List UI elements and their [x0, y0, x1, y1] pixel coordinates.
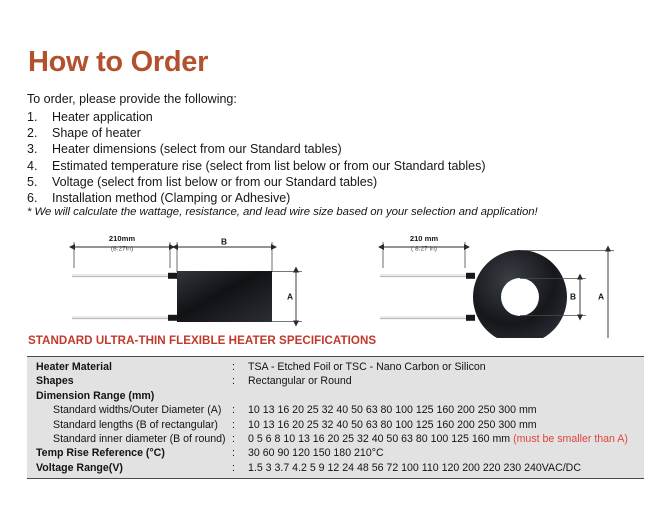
intro-text: To order, please provide the following: — [27, 92, 237, 106]
row-label: Voltage Range(V) — [27, 461, 232, 475]
round-heater-inner-hole — [501, 278, 539, 316]
lead-wire-top — [72, 275, 176, 278]
list-item: 2. Shape of heater — [27, 126, 607, 142]
row-colon: : — [232, 432, 248, 446]
inner-diameter-label-b: B — [570, 292, 576, 302]
lead-connector-bottom — [168, 315, 178, 321]
lead-wire-bottom — [380, 317, 472, 320]
row-label: Shapes — [27, 374, 232, 388]
outer-diameter-label-a: A — [598, 292, 604, 302]
row-label: Dimension Range (mm) — [27, 389, 232, 403]
list-item-number: 5. — [27, 175, 52, 191]
heater-diagrams: 210mm (8.27in) B A — [0, 228, 650, 338]
list-item: 4. Estimated temperature rise (select fr… — [27, 159, 607, 175]
row-colon: : — [232, 418, 248, 432]
row-value: TSA - Etched Foil or TSC - Nano Carbon o… — [248, 360, 644, 374]
list-item-number: 4. — [27, 159, 52, 175]
table-row: Dimension Range (mm) — [27, 389, 644, 403]
table-row: Heater Material : TSA - Etched Foil or T… — [27, 357, 644, 374]
row-value-wrapper: 0 5 6 8 10 13 16 20 25 32 40 50 63 80 10… — [248, 432, 644, 446]
specifications-table: Heater Material : TSA - Etched Foil or T… — [27, 356, 644, 479]
table-row: Shapes : Rectangular or Round — [27, 374, 644, 388]
row-label: Standard lengths (B of rectangular) — [27, 418, 232, 432]
row-value: 1.5 3 3.7 4.2 5 9 12 24 48 56 72 100 110… — [248, 461, 644, 475]
order-steps-list: 1. Heater application 2. Shape of heater… — [27, 110, 607, 207]
table-row: Standard widths/Outer Diameter (A) : 10 … — [27, 403, 644, 417]
diagram-canvas: 210mm (8.27in) B A — [0, 228, 650, 338]
row-value: 10 13 16 20 25 32 40 50 63 80 100 125 16… — [248, 418, 644, 432]
list-item-label: Shape of heater — [52, 126, 607, 142]
table-row: Temp Rise Reference (°C) : 30 60 90 120 … — [27, 446, 644, 460]
list-item-number: 6. — [27, 191, 52, 207]
row-colon: : — [232, 403, 248, 417]
row-label: Standard widths/Outer Diameter (A) — [27, 403, 232, 417]
list-item-label: Installation method (Clamping or Adhesiv… — [52, 191, 607, 207]
row-colon: : — [232, 374, 248, 388]
order-page: How to Order To order, please provide th… — [0, 0, 650, 523]
page-title: How to Order — [28, 48, 208, 77]
lead-wire-bottom — [72, 317, 176, 320]
table-row: Voltage Range(V) : 1.5 3 3.7 4.2 5 9 12 … — [27, 461, 644, 478]
row-colon: : — [232, 446, 248, 460]
list-item: 1. Heater application — [27, 110, 607, 126]
list-item-number: 3. — [27, 142, 52, 158]
row-value: Rectangular or Round — [248, 374, 644, 388]
list-item-label: Voltage (select from list below or from … — [52, 175, 607, 191]
lead-connector-top — [466, 273, 475, 279]
list-item: 3. Heater dimensions (select from our St… — [27, 142, 607, 158]
height-label-a: A — [287, 292, 293, 302]
lead-length-inch-label: ( 8.27 in) — [411, 246, 437, 253]
list-item-label: Heater application — [52, 110, 607, 126]
lead-length-inch-label: (8.27in) — [111, 246, 133, 253]
table-row: Standard inner diameter (B of round) : 0… — [27, 432, 644, 446]
rectangular-heater-body — [177, 271, 272, 322]
row-colon: : — [232, 360, 248, 374]
row-value: 30 60 90 120 150 180 210°C — [248, 446, 644, 460]
round-heater-diagram: 210 mm ( 8.27 in) B A — [380, 234, 614, 338]
row-value-note: (must be smaller than A) — [513, 433, 628, 445]
list-item-number: 2. — [27, 126, 52, 142]
list-item: 5. Voltage (select from list below or fr… — [27, 175, 607, 191]
row-label: Temp Rise Reference (°C) — [27, 446, 232, 460]
width-label-b: B — [221, 237, 227, 247]
list-item-label: Estimated temperature rise (select from … — [52, 159, 607, 175]
row-label: Heater Material — [27, 360, 232, 374]
lead-length-mm-label: 210mm — [109, 234, 135, 243]
row-value: 10 13 16 20 25 32 40 50 63 80 100 125 16… — [248, 403, 644, 417]
lead-wire-top — [380, 275, 472, 278]
list-item-number: 1. — [27, 110, 52, 126]
table-row: Standard lengths (B of rectangular) : 10… — [27, 418, 644, 432]
footnote: * We will calculate the wattage, resista… — [27, 206, 538, 218]
lead-connector-bottom — [466, 315, 475, 321]
row-colon: : — [232, 461, 248, 475]
lead-connector-top — [168, 273, 178, 279]
lead-length-mm-label: 210 mm — [410, 234, 439, 243]
row-value: 0 5 6 8 10 13 16 20 25 32 40 50 63 80 10… — [248, 433, 510, 445]
list-item-label: Heater dimensions (select from our Stand… — [52, 142, 607, 158]
specifications-heading: STANDARD ULTRA-THIN FLEXIBLE HEATER SPEC… — [28, 334, 376, 347]
row-label: Standard inner diameter (B of round) — [27, 432, 232, 446]
list-item: 6. Installation method (Clamping or Adhe… — [27, 191, 607, 207]
rectangular-heater-diagram: 210mm (8.27in) B A — [72, 234, 302, 322]
